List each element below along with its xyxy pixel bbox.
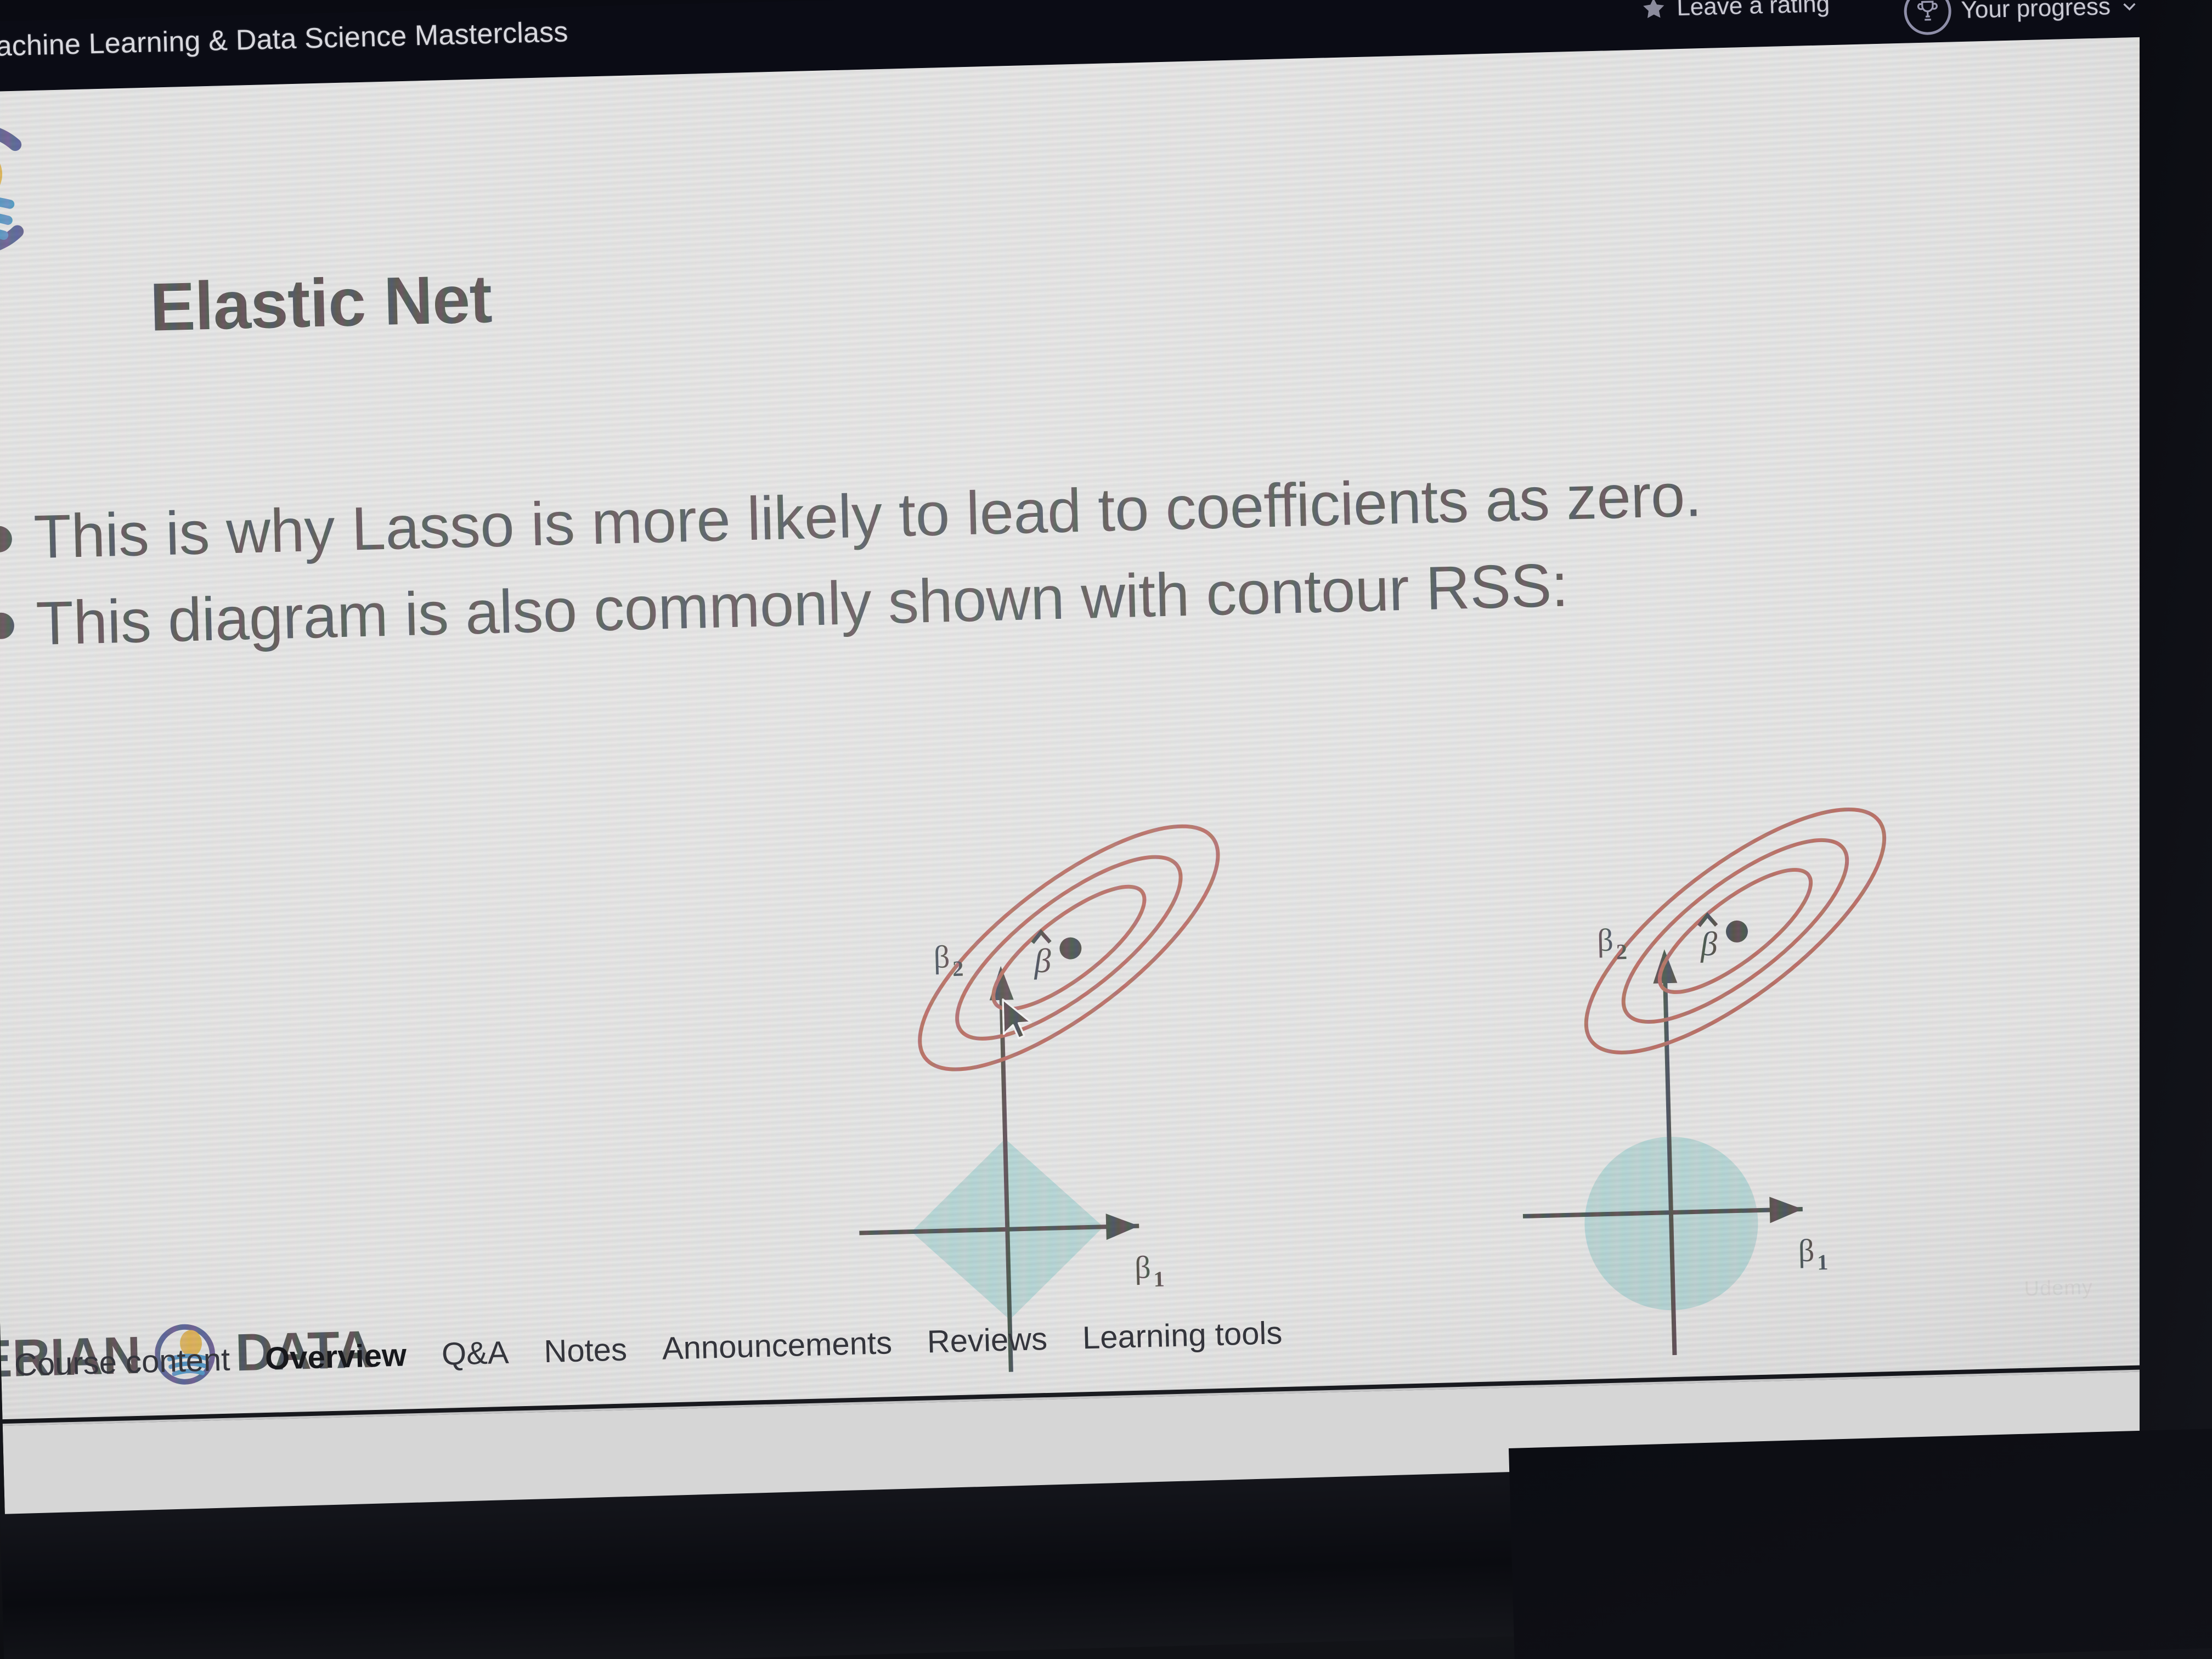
bullet-dot-icon <box>0 612 14 639</box>
lasso-l1-panel: β β 2 β 1 <box>848 785 1264 1376</box>
l2-y-axis-label-sub: 2 <box>1616 939 1627 964</box>
tab-course-content[interactable]: Course content <box>14 1341 230 1396</box>
tab-announcements[interactable]: Announcements <box>662 1324 893 1379</box>
progress-ring <box>1904 0 1952 36</box>
l1-beta-hat-label: β <box>1032 932 1052 980</box>
tab-reviews[interactable]: Reviews <box>927 1321 1048 1373</box>
leave-a-rating-label: Leave a rating <box>1677 0 1830 21</box>
trophy-icon <box>1915 0 1940 24</box>
svg-text:β: β <box>1033 943 1052 980</box>
l2-beta-hat-label: β <box>1699 915 1718 963</box>
leave-a-rating-button[interactable]: Leave a rating <box>1640 0 1830 22</box>
tab-overview[interactable]: Overview <box>264 1337 407 1389</box>
tab-learning-tools[interactable]: Learning tools <box>1082 1314 1283 1368</box>
pierian-data-logo-icon <box>0 119 46 259</box>
l2-x-axis-arrow <box>1769 1196 1803 1223</box>
l1-y-axis-label: β <box>933 939 950 975</box>
chevron-down-icon <box>2120 0 2139 16</box>
lecture-slide: Elastic Net This is why Lasso is more li… <box>0 36 2212 1419</box>
tab-notes[interactable]: Notes <box>544 1331 628 1382</box>
l2-beta-hat-point <box>1725 920 1748 943</box>
l1-x-axis-label-sub: 1 <box>1153 1267 1165 1291</box>
ridge-l2-panel: β β 2 β 1 <box>1512 768 1931 1359</box>
course-title: Machine Learning & Data Science Mastercl… <box>0 15 568 63</box>
bezel-right <box>2140 0 2212 1659</box>
l1-beta-hat-point <box>1059 937 1082 960</box>
slide-bullet-list: This is why Lasso is more likely to lead… <box>0 444 2128 671</box>
slide-title: Elastic Net <box>149 260 492 347</box>
bezel-bottom-right-corner <box>1509 1427 2212 1659</box>
bullet-dot-icon <box>0 526 12 552</box>
star-icon <box>1640 0 1667 22</box>
photo-of-laptop-screen: Machine Learning & Data Science Mastercl… <box>0 0 2212 1659</box>
tab-qa[interactable]: Q&A <box>441 1334 510 1385</box>
mouse-pointer-icon <box>1000 997 1039 1045</box>
l2-x-axis-label: β <box>1798 1233 1815 1269</box>
l2-y-axis-label: β <box>1596 922 1613 958</box>
l1-y-axis-label-sub: 2 <box>952 956 964 981</box>
l2-x-axis-label-sub: 1 <box>1817 1250 1829 1274</box>
your-progress-button[interactable]: Your progress <box>1904 0 2140 36</box>
laptop-screen: Machine Learning & Data Science Mastercl… <box>0 0 2212 1519</box>
l1-x-axis-arrow <box>1106 1213 1139 1240</box>
l1-x-axis-label: β <box>1134 1249 1151 1285</box>
svg-text:β: β <box>1700 926 1718 963</box>
your-progress-label: Your progress <box>1961 0 2111 24</box>
